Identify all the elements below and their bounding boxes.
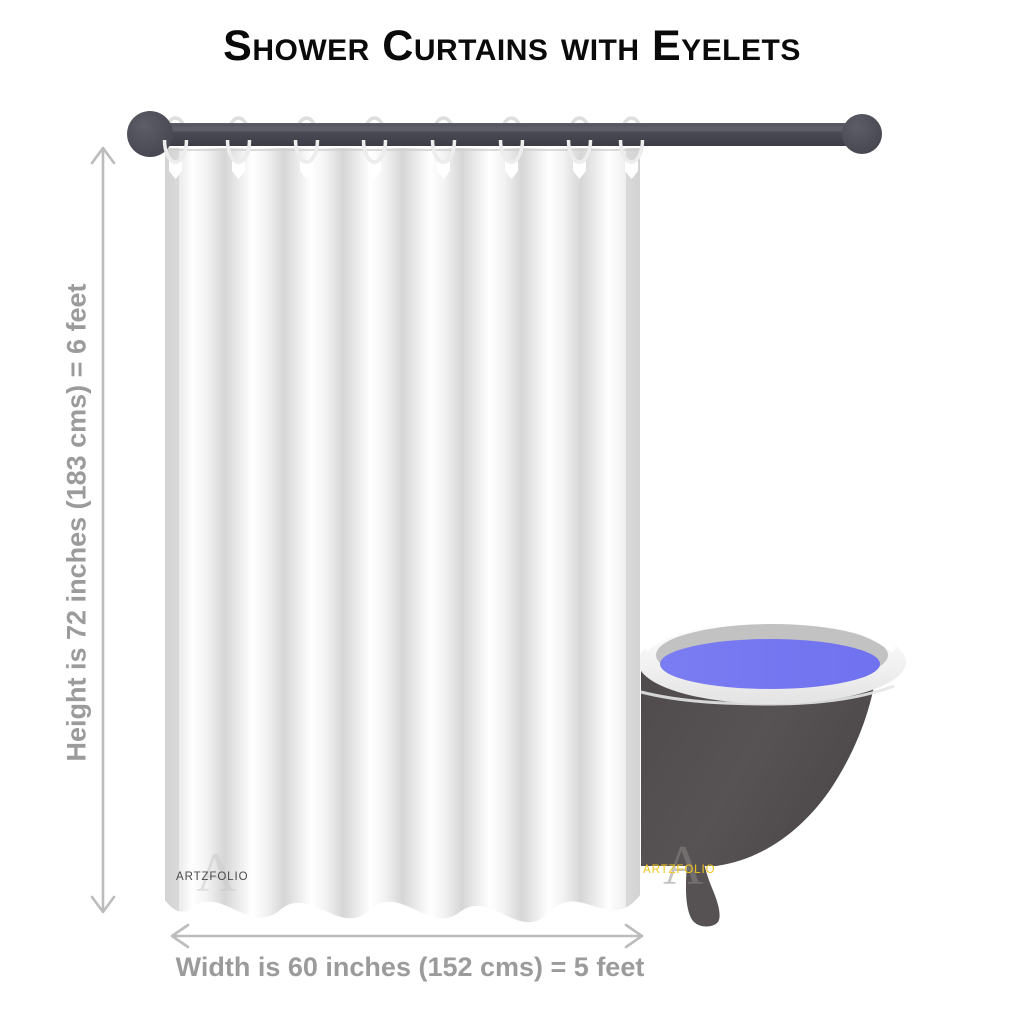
rod-finial-right [842,114,882,154]
height-dimension-label: Height is 72 inches (183 cms) = 6 feet [62,158,93,888]
curtain-group [165,148,640,948]
shower-curtain-illustration [0,0,1024,1024]
curtain-fabric [165,148,640,948]
illustration-canvas: Shower Curtains with Eyelets [0,0,1024,1024]
curtain-edge-shade-left [165,148,179,948]
bathtub-group [638,618,906,927]
curtain-edge-shade-right [626,148,640,948]
width-dimension-label: Width is 60 inches (152 cms) = 5 feet [105,952,715,983]
curtain-rod-highlight [158,127,858,132]
bathtub-water [660,639,880,689]
curtain-rod [150,123,868,146]
